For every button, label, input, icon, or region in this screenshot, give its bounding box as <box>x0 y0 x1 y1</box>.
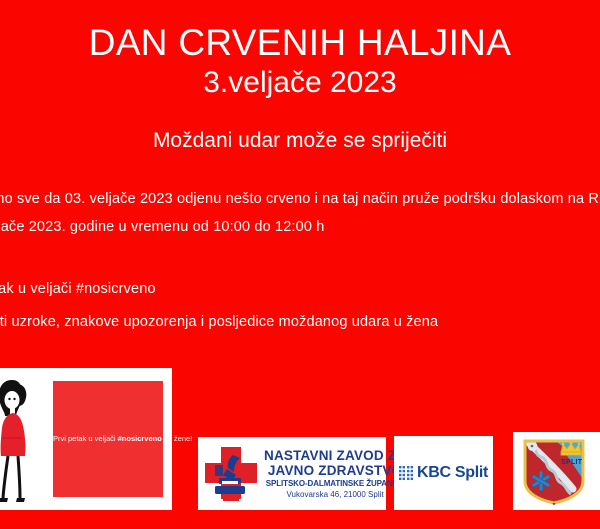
body-paragraph-2: . veljače 2023. godine u vremenu od 10:0… <box>0 218 600 236</box>
poster-canvas: DAN CRVENIH HALJINA 3.veljače 2023 Možda… <box>0 0 600 529</box>
nzjz-address: Vukovarska 46, 21000 Split <box>264 489 406 500</box>
split-crest-label: SPLIT <box>561 459 582 466</box>
split-crest-icon <box>521 437 587 505</box>
page-title: DAN CRVENIH HALJINA <box>0 22 600 64</box>
split-coat-of-arms-card: SPLIT <box>513 432 600 510</box>
kbc-split-logo-card: KBC Split <box>394 436 493 510</box>
dress-logo-banner: Prvi petak u veljači #nosicrveno za žene… <box>53 381 163 497</box>
nzjz-line-3: SPLITSKO-DALMATINSKE ŽUPANIJE <box>264 478 406 489</box>
dress-logo-banner-text: Prvi petak u veljači #nosicrveno za žene… <box>53 434 163 444</box>
kbc-split-wordmark: KBC Split <box>417 464 488 482</box>
event-tagline: Moždani udar može se spriječiti <box>0 128 600 154</box>
microscope-red-cross-icon <box>203 445 259 503</box>
banner-hashtag: #nosicrveno <box>118 434 162 443</box>
nzjz-line-1: NASTAVNI ZAVOD ZA <box>264 448 406 463</box>
kbc-dot-grid-icon <box>399 466 413 480</box>
event-date: 3.veljače 2023 <box>0 66 600 100</box>
dress-logo-wrap: #nosicrveno Prvi petak u veljači #nosicr… <box>0 368 172 510</box>
nastavni-zavod-logo-card: NASTAVNI ZAVOD ZA JAVNO ZDRAVSTVO SPLITS… <box>198 437 386 510</box>
body-paragraph-4: vijesti uzroke, znakove upozorenja i pos… <box>0 313 600 331</box>
body-paragraph-3: i petak u veljači #nosicrveno <box>0 280 600 298</box>
body-paragraph-1: zivamo sve da 03. veljače 2023 odjenu ne… <box>0 190 600 208</box>
nosicrveno-dress-logo-card: #nosicrveno Prvi petak u veljači #nosicr… <box>0 368 172 510</box>
dress-logo-side-text: #nosicrveno <box>3 436 22 440</box>
nastavni-zavod-wordmark: NASTAVNI ZAVOD ZA JAVNO ZDRAVSTVO SPLITS… <box>264 448 406 500</box>
banner-suffix: za žene! <box>162 434 192 443</box>
nzjz-line-2: JAVNO ZDRAVSTVO <box>264 463 406 478</box>
banner-prefix: Prvi petak u veljači <box>53 434 118 443</box>
